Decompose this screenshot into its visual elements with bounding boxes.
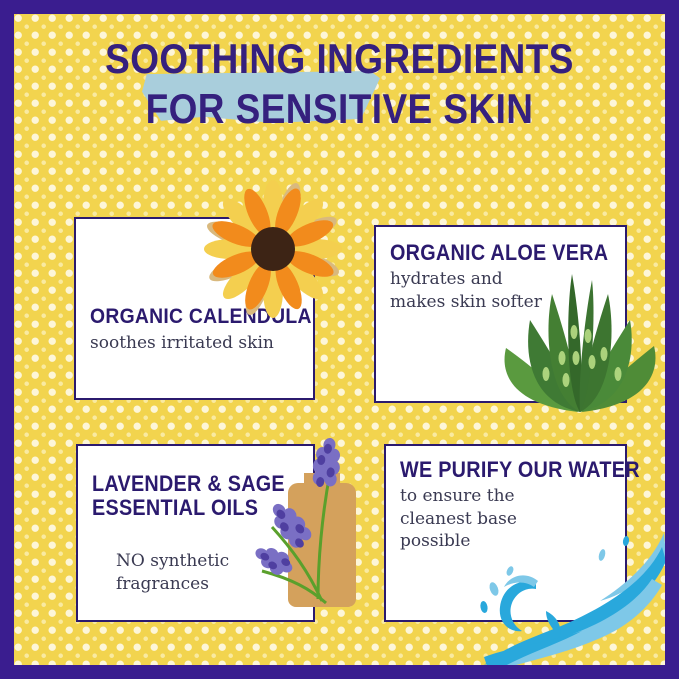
card-we-purify-our-water: WE PURIFY OUR WATER to ensure the cleane… [384,444,627,622]
title-line-2: FOR SENSITIVE SKIN [53,84,626,134]
card-calendula-text: ORGANIC CALENDULA soothes irritated skin [76,305,313,354]
card-water-body: to ensure the cleanest base possible [400,485,550,552]
card-organic-calendula: ORGANIC CALENDULA soothes irritated skin [74,217,315,400]
card-aloe-body: hydrates and makes skin softer [390,268,550,313]
page-title: SOOTHING INGREDIENTS FOR SENSITIVE SKIN [14,34,665,133]
polka-dot-background: SOOTHING INGREDIENTS FOR SENSITIVE SKIN … [14,14,665,665]
card-water-heading: WE PURIFY OUR WATER [400,458,590,482]
card-calendula-body: soothes irritated skin [90,332,299,354]
title-line-2-text: FOR SENSITIVE SKIN [146,85,534,132]
card-lavender-body: NO synthetic fragrances [92,550,266,595]
title-line-1: SOOTHING INGREDIENTS [53,34,626,84]
card-lavender-heading-line-1: LAVENDER & SAGE [92,472,278,496]
card-aloe-heading: ORGANIC ALOE VERA [390,241,589,265]
card-lavender-text: LAVENDER & SAGE ESSENTIAL OILS NO synthe… [78,472,313,595]
infographic-poster: SOOTHING INGREDIENTS FOR SENSITIVE SKIN … [0,0,679,679]
card-lavender-heading-line-2: ESSENTIAL OILS [92,496,278,520]
card-aloe-text: ORGANIC ALOE VERA hydrates and makes ski… [376,241,625,313]
card-organic-aloe-vera: ORGANIC ALOE VERA hydrates and makes ski… [374,225,627,403]
card-water-text: WE PURIFY OUR WATER to ensure the cleane… [386,458,625,553]
card-calendula-heading: ORGANIC CALENDULA [90,305,278,329]
card-lavender-sage-oils: LAVENDER & SAGE ESSENTIAL OILS NO synthe… [76,444,315,622]
title-highlight-brush [142,71,380,123]
title-line-1-text: SOOTHING INGREDIENTS [105,35,574,82]
